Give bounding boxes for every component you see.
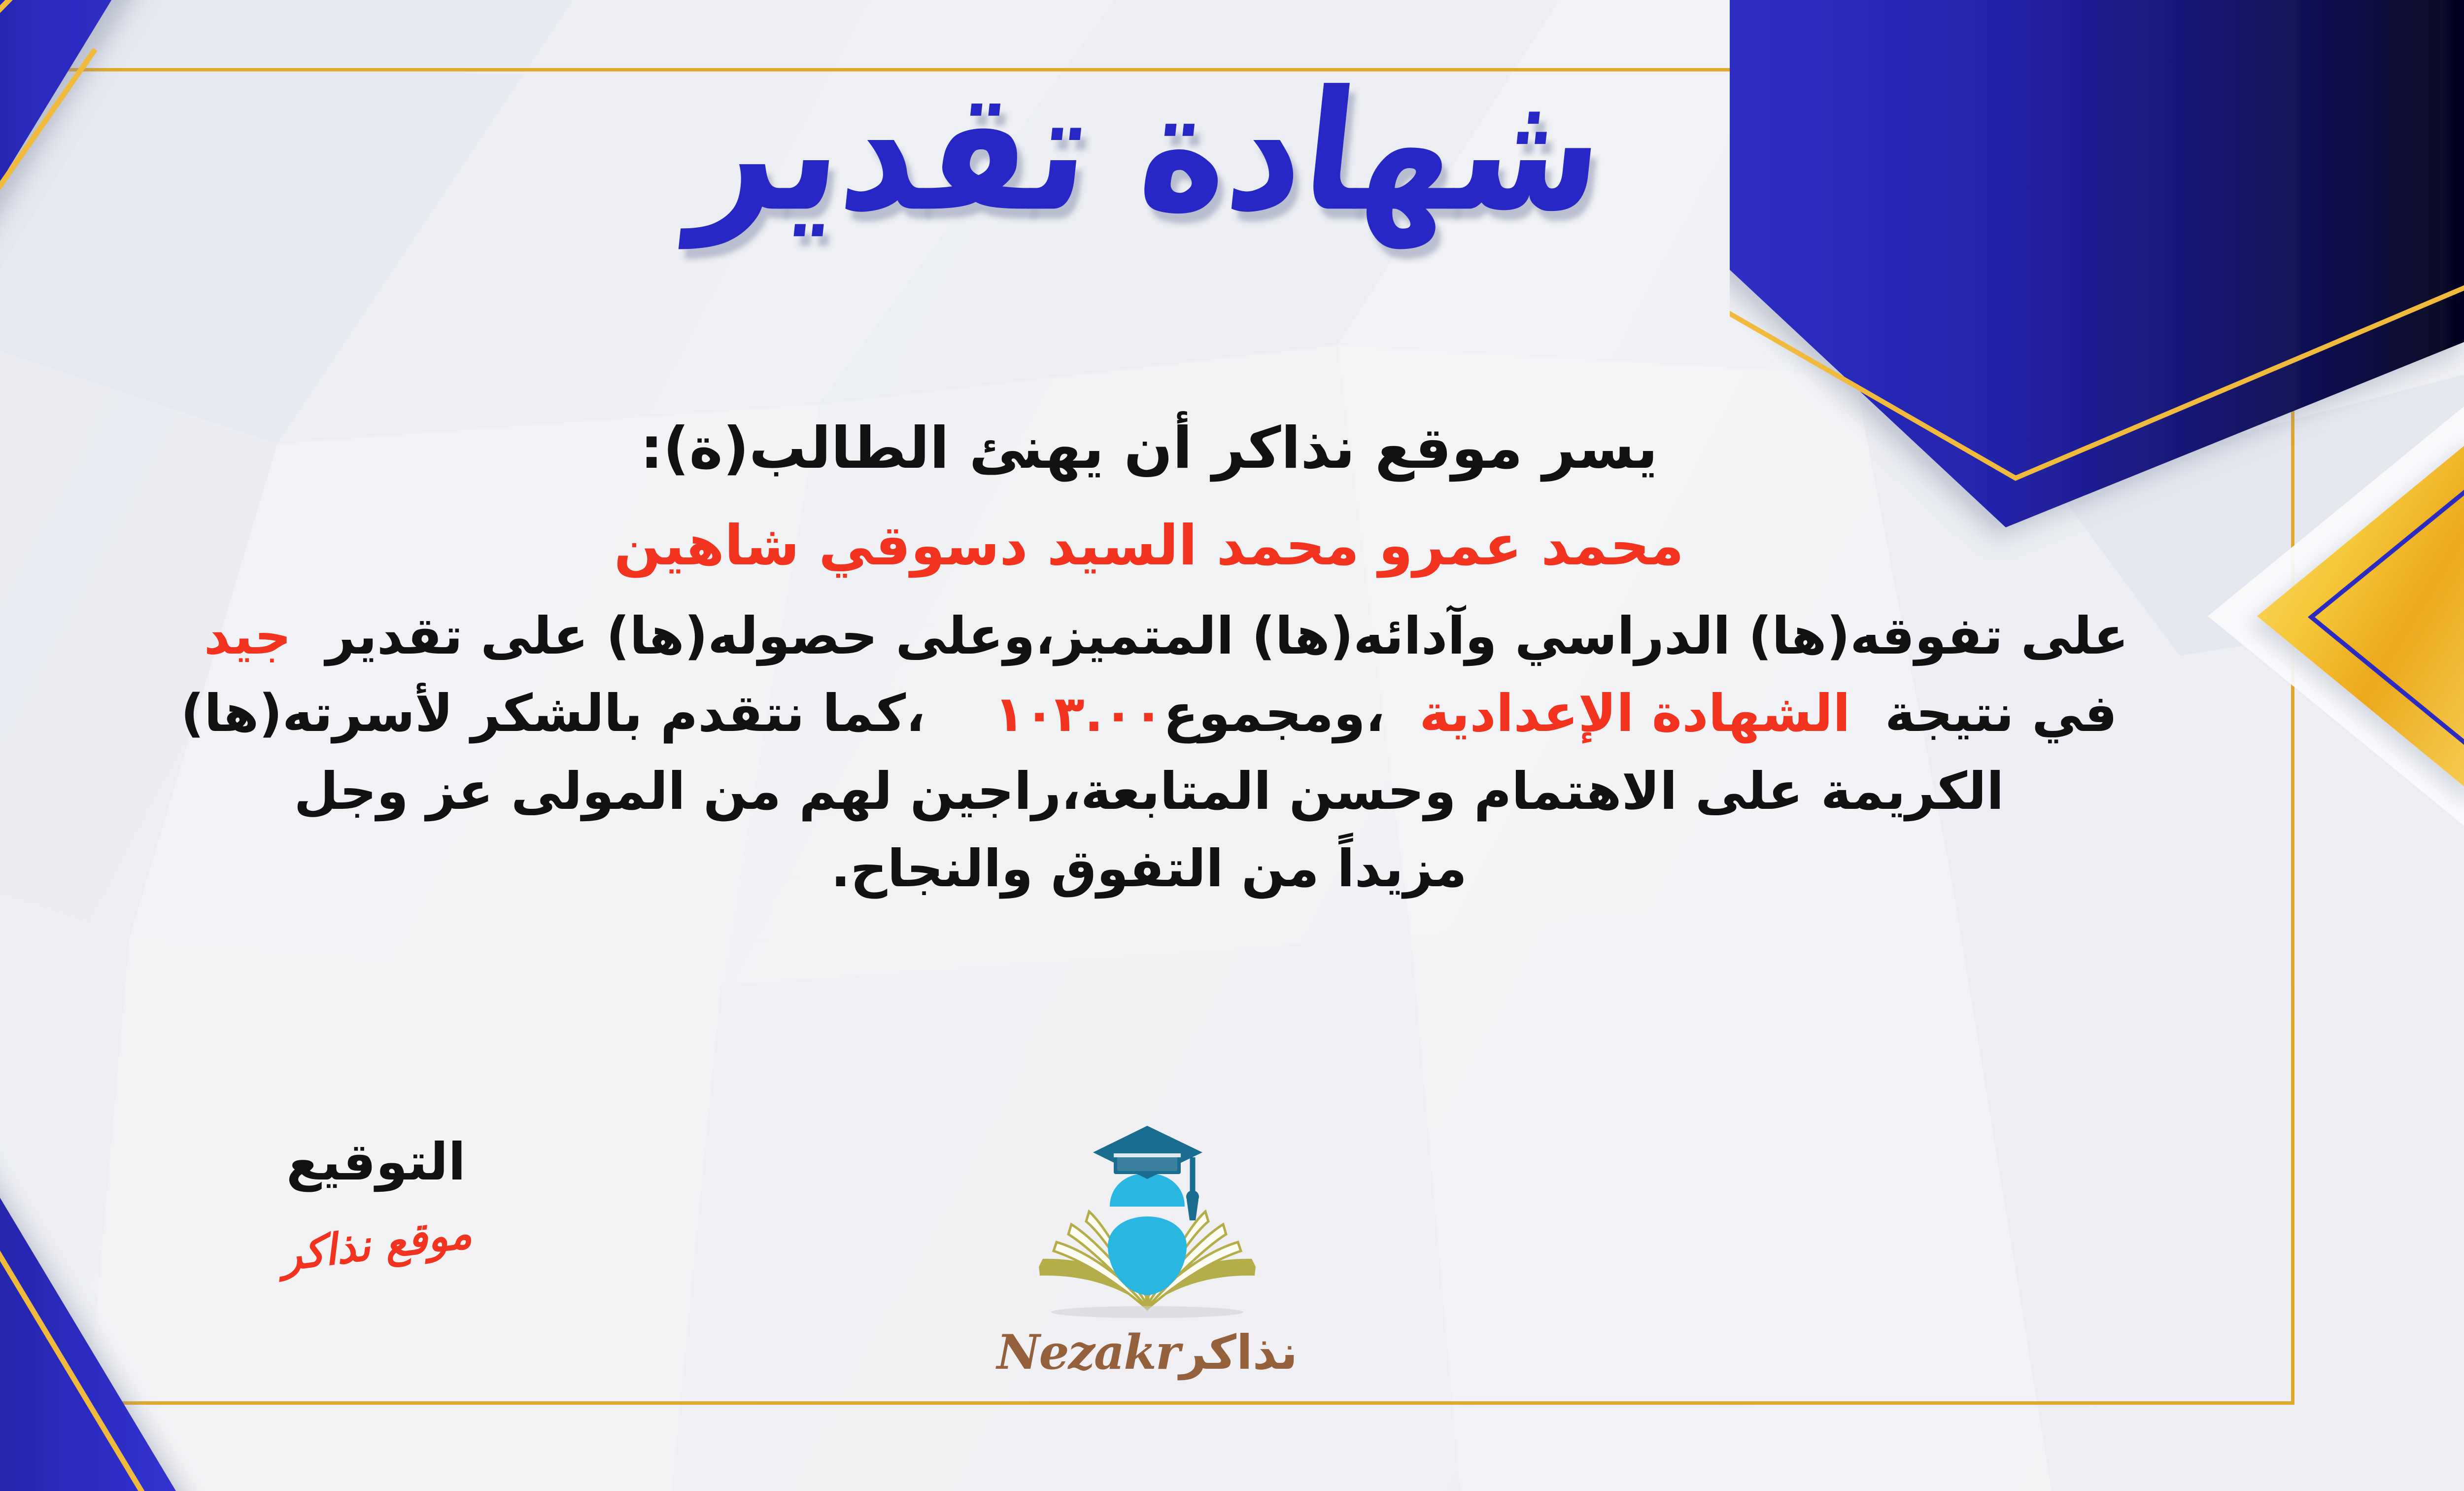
grade-value: جيد [204,606,291,666]
closing-line: مزيداً من التفوق والنجاح. [0,833,2385,904]
achievement-text: على تفوقه(ها) الدراسي وآدائه(ها) المتميز… [326,606,2128,666]
graduate-book-icon [1009,1119,1285,1326]
site-logo: نذاكرNezakr [935,1119,1359,1415]
result-prefix: في نتيجة [1885,683,2118,743]
signature-area: التوقيع موقع نذاكر [179,1134,573,1269]
achievement-line: على تفوقه(ها) الدراسي وآدائه(ها) المتميز… [0,601,2385,672]
result-line: في نتيجةالشهادة الإعدادية،ومجموع١٠٣.٠٠،ك… [0,678,2385,749]
signature-script: موقع نذاكر [278,1208,474,1281]
student-name-value: محمد عمرو محمد السيد دسوقي شاهين [614,514,1684,578]
logo-latin: Nezakr [997,1324,1180,1380]
certificate-title-wrap: شهادة تقدير [0,74,2464,229]
family-line: الكريمة على الاهتمام وحسن المتابعة،راجين… [0,756,2385,827]
logo-wordmark: نذاكرNezakr [935,1329,1359,1376]
intro-line: يسر موقع نذاكر أن يهنئ الطالب(ة): [0,409,2385,488]
certificate-body: يسر موقع نذاكر أن يهنئ الطالب(ة): محمد ع… [0,409,2385,904]
total-label: ،ومجموع [1164,683,1385,743]
signature-label: التوقيع [179,1134,573,1190]
total-score-value: ١٠٣.٠٠ [994,685,1164,743]
thanks-text: ،كما نتقدم بالشكر لأسرته(ها) [181,683,925,743]
certificate-page: شهادة تقدير يسر موقع نذاكر أن يهنئ الطال… [0,0,2464,1491]
exam-name-value: الشهادة الإعدادية [1419,683,1850,743]
student-name: محمد عمرو محمد السيد دسوقي شاهين [0,508,2385,584]
logo-arabic: نذاكر [1179,1325,1298,1380]
page-title: شهادة تقدير [686,65,1612,239]
